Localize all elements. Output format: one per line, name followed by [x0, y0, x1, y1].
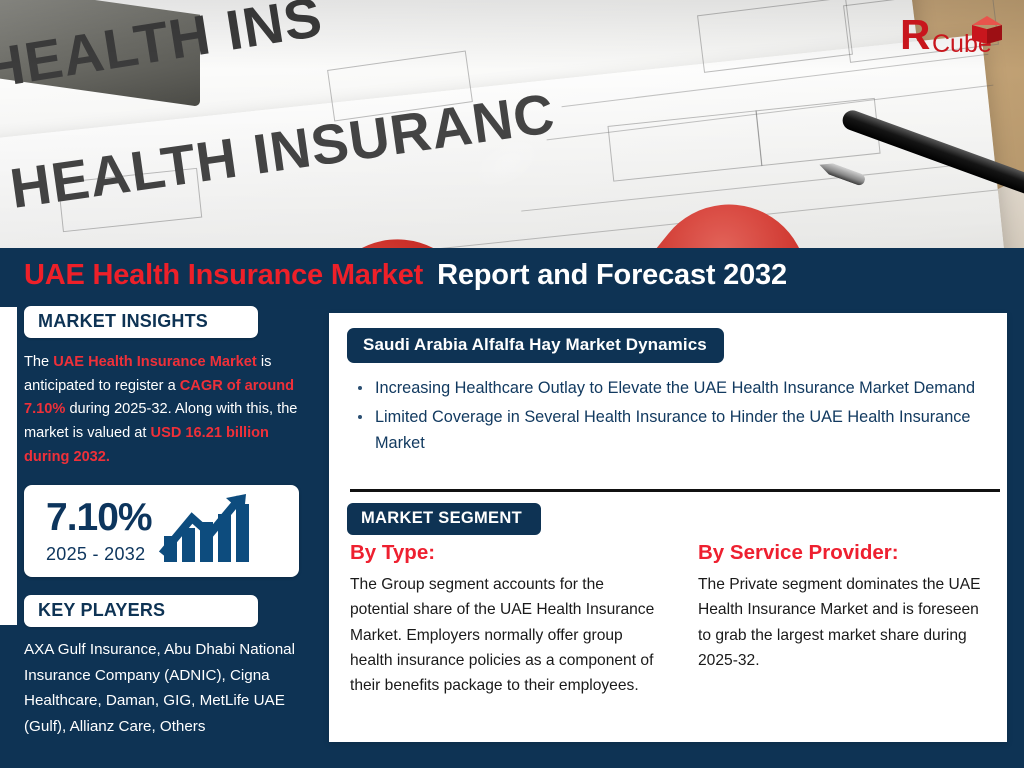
logo-mirrored-r: Я	[900, 14, 930, 56]
page-title-highlight: UAE Health Insurance Market	[24, 259, 423, 292]
insights-market-name: UAE Health Insurance Market	[53, 354, 257, 370]
photo-vignette	[0, 0, 1024, 248]
title-bar: UAE Health Insurance Market Report and F…	[0, 248, 1024, 302]
cagr-value: 7.10%	[46, 498, 152, 537]
segment-columns: By Type: The Group segment accounts for …	[350, 541, 990, 698]
hero-photo: HEALTH INS HEALTH INSURANC Я Cube	[0, 0, 1024, 248]
market-dynamics-heading: Saudi Arabia Alfalfa Hay Market Dynamics	[347, 328, 724, 363]
main-panel: Saudi Arabia Alfalfa Hay Market Dynamics…	[329, 313, 1007, 742]
cagr-range: 2025 - 2032	[46, 544, 152, 565]
market-dynamics-list: Increasing Healthcare Outlay to Elevate …	[349, 375, 989, 459]
segment-column-by-type: By Type: The Group segment accounts for …	[350, 541, 660, 698]
insights-part1: The	[24, 354, 53, 370]
segment-heading: By Type:	[350, 541, 660, 565]
key-players-text: AXA Gulf Insurance, Abu Dhabi National I…	[24, 637, 316, 739]
segment-body: The Group segment accounts for the poten…	[350, 572, 660, 698]
section-divider	[350, 489, 1000, 492]
key-players-label: KEY PLAYERS	[24, 595, 258, 627]
rcube-logo[interactable]: Я Cube	[900, 14, 1004, 62]
list-item: Limited Coverage in Several Health Insur…	[349, 404, 989, 456]
market-insights-label: MARKET INSIGHTS	[24, 306, 258, 338]
market-segment-label: MARKET SEGMENT	[347, 503, 541, 535]
growth-bar-chart-arrow-icon	[158, 492, 258, 571]
sidebar: MARKET INSIGHTS The UAE Health Insurance…	[24, 306, 320, 739]
left-edge-accent-strip	[0, 307, 17, 625]
infographic-page: HEALTH INS HEALTH INSURANC Я Cube UAE He…	[0, 0, 1024, 768]
market-insights-text: The UAE Health Insurance Market is antic…	[24, 351, 306, 469]
segment-column-by-service-provider: By Service Provider: The Private segment…	[698, 541, 990, 698]
segment-heading: By Service Provider:	[698, 541, 990, 565]
red-cube-icon	[972, 16, 1002, 48]
list-item: Increasing Healthcare Outlay to Elevate …	[349, 375, 989, 401]
segment-body: The Private segment dominates the UAE He…	[698, 572, 990, 673]
cagr-card: 7.10% 2025 - 2032	[24, 485, 299, 577]
page-title-rest: Report and Forecast 2032	[437, 259, 787, 292]
